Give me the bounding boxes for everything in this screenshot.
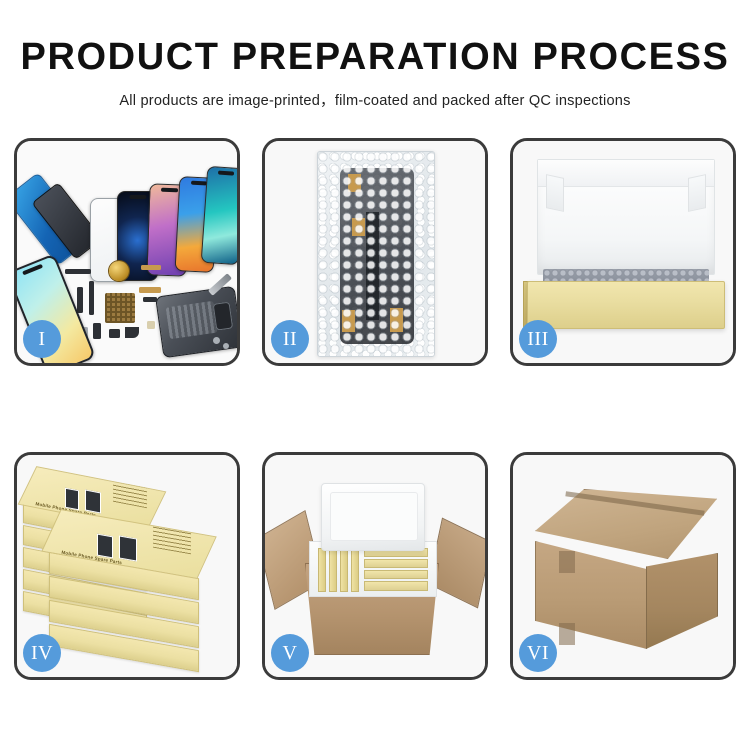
inner-box-vertical: [340, 548, 348, 592]
panel-step-3: III: [510, 138, 736, 366]
step-badge-1: I: [23, 320, 61, 358]
step-badge-6: VI: [519, 634, 557, 672]
box-label-thumbnail: [97, 534, 113, 559]
notch-icon: [190, 181, 206, 186]
box-label-thumbnail: [119, 535, 137, 561]
screw-part: [223, 343, 229, 349]
flex-cable: [366, 212, 379, 320]
inner-box-horizontal: [364, 559, 428, 568]
spare-part: [65, 269, 91, 274]
spare-part: [147, 321, 155, 329]
phone-teal-wallpaper: [201, 166, 237, 265]
spare-part: [109, 329, 120, 338]
inner-box-vertical: [318, 548, 326, 592]
process-steps-grid: I II: [14, 138, 736, 680]
inner-box-vertical: [351, 548, 359, 592]
step-badge-4: IV: [23, 634, 61, 672]
gold-connector: [342, 310, 355, 332]
panel-step-6: VI: [510, 452, 736, 680]
white-box-lid: [537, 159, 715, 275]
panel-step-2: II: [262, 138, 488, 366]
lid-flap-right: [688, 174, 706, 212]
step-badge-5: V: [271, 634, 309, 672]
carton-front-face: [535, 541, 647, 649]
spare-part: [141, 265, 161, 270]
step-badge-3: III: [519, 320, 557, 358]
screw-part: [213, 337, 220, 344]
notch-icon: [161, 188, 178, 193]
carton-side-face: [646, 553, 718, 649]
page-subtitle: All products are image-printed，film-coat…: [0, 89, 750, 110]
panel-step-4: Mobile Phone Spare Parts Mobile Phone Sp…: [14, 452, 240, 680]
panel-step-5: V: [262, 452, 488, 680]
notch-icon: [218, 171, 234, 176]
product-preparation-infographic: PRODUCT PREPARATION PROCESS All products…: [0, 0, 750, 750]
spare-part: [89, 281, 94, 315]
spare-part: [77, 287, 83, 313]
panel-step-1: I: [14, 138, 240, 366]
spare-part: [93, 323, 101, 339]
carton-tape-upper: [559, 551, 575, 573]
bubble-wrap-bag: [317, 151, 435, 357]
chip-array-part: [105, 293, 135, 323]
spare-part: [139, 287, 161, 293]
box-label-thumbnail: [85, 489, 101, 513]
inner-box-vertical: [329, 548, 337, 592]
spare-part: [143, 297, 157, 302]
header: PRODUCT PREPARATION PROCESS All products…: [0, 0, 750, 110]
box-label-thumbnail: [65, 488, 79, 511]
gold-connector: [352, 218, 365, 236]
notch-icon: [22, 264, 43, 276]
foam-lid: [321, 483, 425, 551]
step-badge-2: II: [271, 320, 309, 358]
gold-connector: [390, 308, 403, 332]
gold-connector: [348, 174, 361, 192]
page-title: PRODUCT PREPARATION PROCESS: [0, 38, 750, 78]
yellow-inner-box: [527, 281, 725, 329]
inner-box-horizontal: [364, 570, 428, 579]
inner-box-horizontal: [364, 581, 428, 591]
carton-tape-lower: [559, 623, 575, 645]
spare-part: [125, 327, 139, 338]
notch-icon: [129, 195, 146, 199]
lid-flap-left: [546, 174, 564, 212]
vibration-motor-part: [109, 261, 129, 281]
